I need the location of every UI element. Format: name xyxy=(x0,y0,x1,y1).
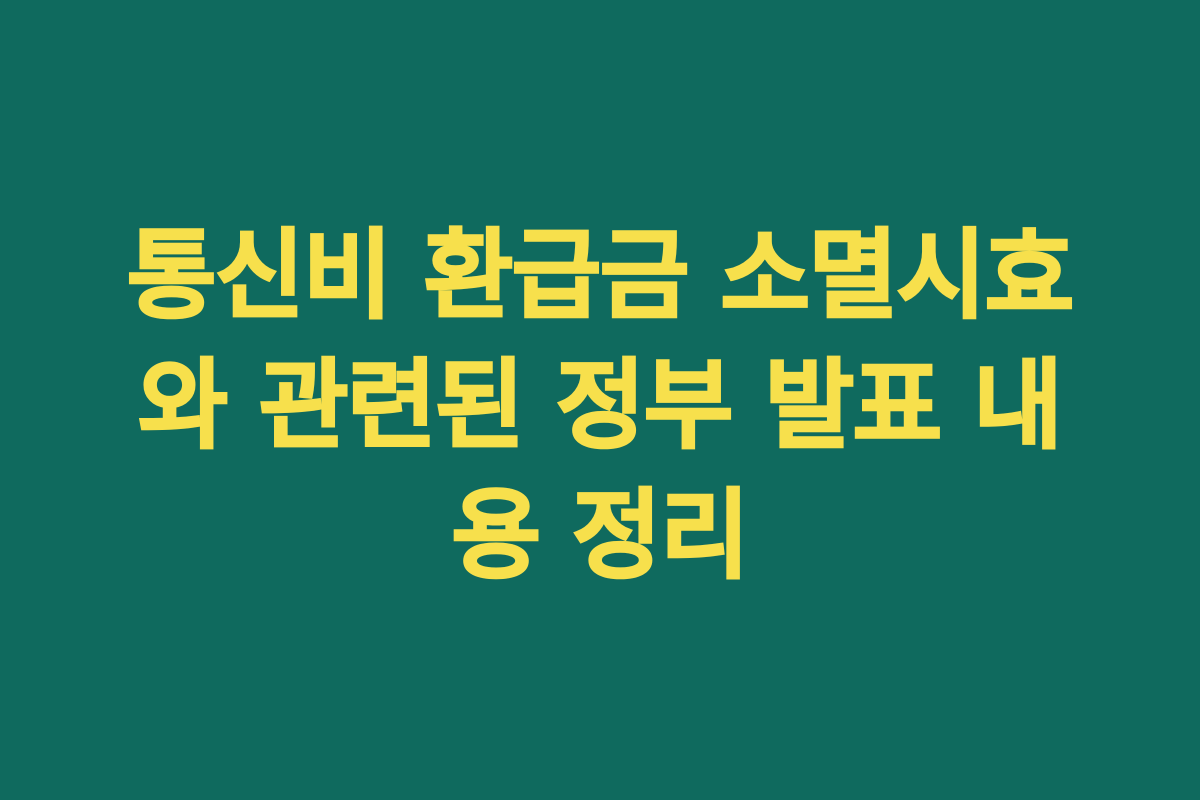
page-title: 통신비 환급금 소멸시효 와 관련된 정부 발표 내 용 정리 xyxy=(97,211,1103,601)
headline-line-1: 통신비 환급금 소멸시효 xyxy=(97,211,1103,341)
headline-line-3: 용 정리 xyxy=(97,471,1103,601)
thumbnail-card: 통신비 환급금 소멸시효 와 관련된 정부 발표 내 용 정리 xyxy=(0,0,1200,800)
headline-line-2: 와 관련된 정부 발표 내 xyxy=(97,341,1103,471)
title-block: 통신비 환급금 소멸시효 와 관련된 정부 발표 내 용 정리 xyxy=(95,211,1105,601)
